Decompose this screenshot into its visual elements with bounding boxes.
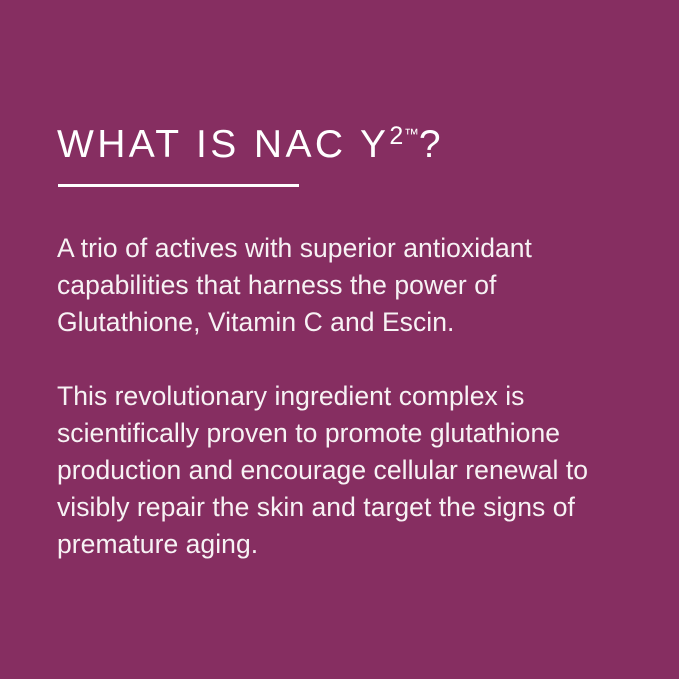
body-paragraph-1: A trio of actives with superior antioxid… [57, 230, 642, 341]
trademark-icon: ™ [404, 126, 419, 143]
body-paragraph-2: This revolutionary ingredient complex is… [57, 378, 642, 563]
page-title-question-mark: ? [419, 123, 441, 166]
content-block: WHAT IS NAC Y2™? A trio of actives with … [57, 112, 647, 563]
promo-panel: WHAT IS NAC Y2™? A trio of actives with … [0, 0, 679, 679]
page-title-main: WHAT IS NAC Y [57, 123, 389, 166]
page-title: WHAT IS NAC Y2™? [57, 112, 647, 168]
page-title-superscript: 2 [389, 122, 403, 150]
title-underline-divider [58, 184, 299, 187]
